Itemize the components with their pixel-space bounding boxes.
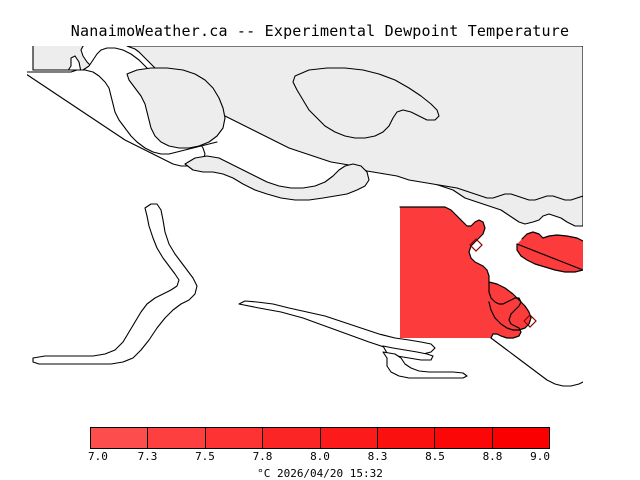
colorbar-tick-8-5: 8.5 <box>425 450 445 463</box>
map-plot-area[interactable] <box>27 46 583 391</box>
colorbar-caption: °C 2026/04/20 15:32 <box>90 467 550 480</box>
colorbar-tick-8-0: 8.0 <box>310 450 330 463</box>
colorbar-tick-labels: 7.07.37.57.88.08.38.58.89.0 <box>90 450 550 466</box>
colorbar-segment-2 <box>148 428 205 448</box>
colorbar-segment-4 <box>263 428 320 448</box>
colorbar-segment-7 <box>435 428 492 448</box>
colorbar-tick-8-8: 8.8 <box>483 450 503 463</box>
colorbar-tick-7-5: 7.5 <box>195 450 215 463</box>
colorbar-tick-8-3: 8.3 <box>368 450 388 463</box>
colorbar-segment-3 <box>206 428 263 448</box>
colorbar-segment-8 <box>493 428 549 448</box>
page-title: NanaimoWeather.ca -- Experimental Dewpoi… <box>0 22 640 40</box>
map-svg <box>27 46 583 391</box>
colorbar-segment-5 <box>321 428 378 448</box>
colorbar-segment-1 <box>91 428 148 448</box>
colorbar-tick-7-3: 7.3 <box>138 450 158 463</box>
colorbar-tick-7-0: 7.0 <box>88 450 108 463</box>
weather-map-page: NanaimoWeather.ca -- Experimental Dewpoi… <box>0 0 640 480</box>
colorbar-tick-7-8: 7.8 <box>253 450 273 463</box>
colorbar-segment-6 <box>378 428 435 448</box>
colorbar-gradient[interactable] <box>90 427 550 449</box>
colorbar-legend: 7.07.37.57.88.08.38.58.89.0 °C 2026/04/2… <box>90 427 550 475</box>
colorbar-tick-9-0: 9.0 <box>530 450 550 463</box>
